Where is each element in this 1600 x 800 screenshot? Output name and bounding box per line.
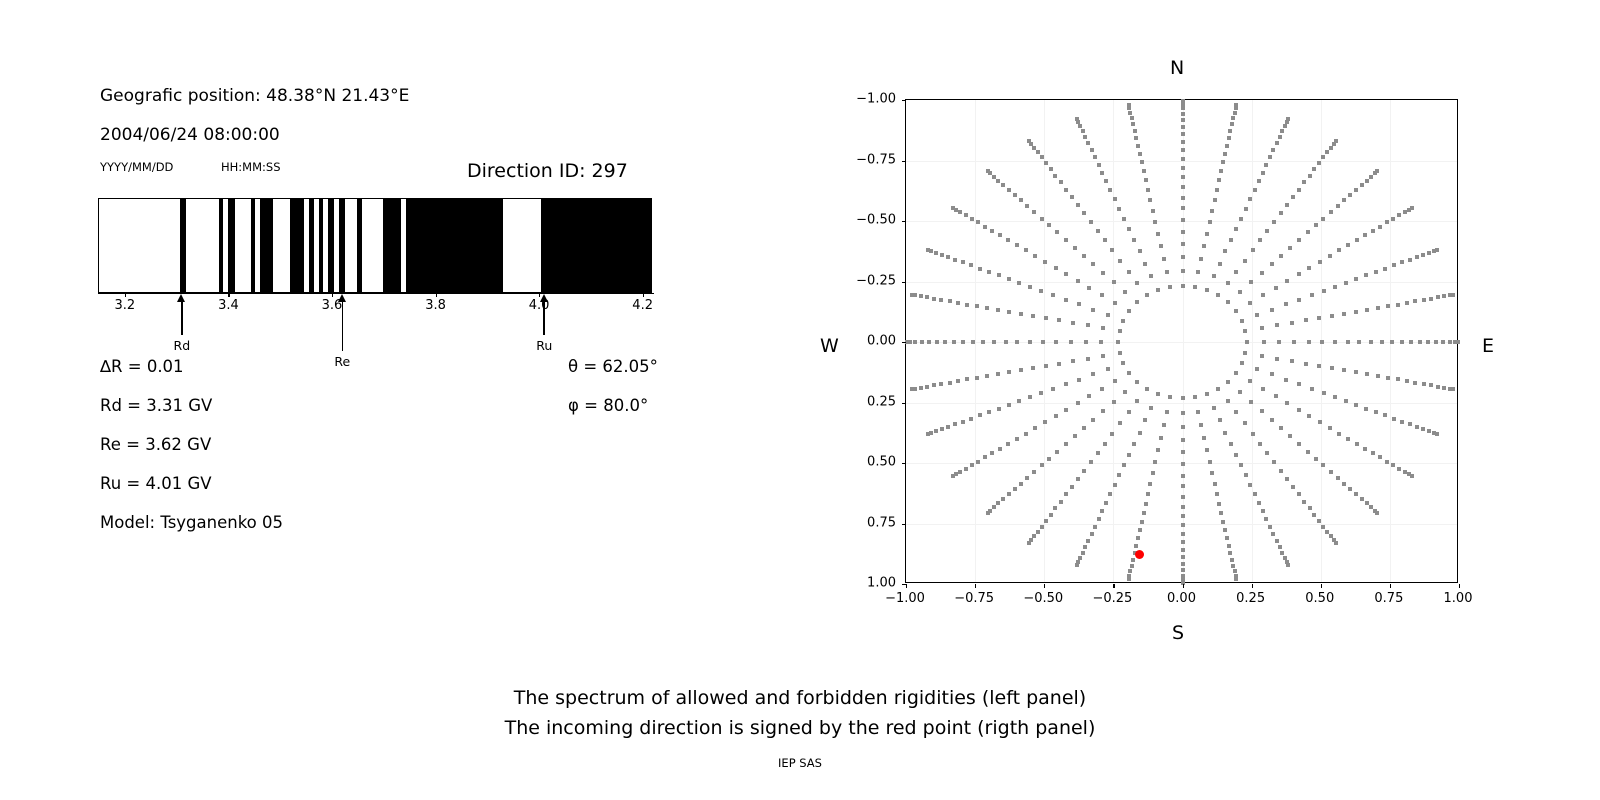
direction-point — [1376, 306, 1380, 310]
direction-point — [1103, 238, 1107, 242]
direction-point — [1100, 509, 1104, 513]
direction-point — [1329, 146, 1333, 150]
direction-point — [1262, 340, 1266, 344]
spectrum-marker-label-rd: Rd — [174, 338, 191, 353]
direction-point — [934, 251, 938, 255]
direction-point — [1135, 300, 1139, 304]
direction-point — [1181, 562, 1185, 566]
direction-point — [1243, 351, 1247, 355]
direction-point — [1100, 171, 1104, 175]
direction-point — [961, 260, 965, 264]
direction-point — [1055, 230, 1059, 234]
direction-point — [1019, 368, 1023, 372]
direction-point — [1015, 437, 1019, 441]
direction-point — [1112, 400, 1116, 404]
plot-x-tick-label: −0.50 — [1023, 591, 1063, 606]
direction-point — [1223, 528, 1227, 532]
direction-point — [1135, 281, 1139, 285]
direction-point — [1181, 157, 1185, 161]
direction-point — [1181, 196, 1185, 200]
direction-point — [1383, 413, 1387, 417]
direction-point — [1308, 174, 1312, 178]
plot-x-tick-label: −0.25 — [1092, 591, 1132, 606]
direction-point — [1248, 483, 1252, 487]
direction-point — [1089, 460, 1093, 464]
direction-point — [1442, 386, 1446, 390]
direction-point — [1027, 139, 1031, 143]
direction-point — [1302, 180, 1306, 184]
direction-point — [983, 225, 987, 229]
direction-point — [1108, 492, 1112, 496]
direction-point — [1138, 528, 1142, 532]
direction-point — [1310, 293, 1314, 297]
direction-point — [1181, 284, 1185, 288]
plot-y-tick — [902, 403, 906, 404]
direction-point — [1205, 232, 1209, 236]
direction-point — [1234, 371, 1238, 375]
direction-point — [1007, 310, 1011, 314]
direction-point — [1427, 251, 1431, 255]
direction-point — [1082, 469, 1086, 473]
direction-point — [1317, 161, 1321, 165]
direction-point — [1132, 442, 1136, 446]
direction-point — [1261, 509, 1265, 513]
direction-point — [1275, 323, 1279, 327]
direction-point — [1181, 411, 1185, 415]
direction-point — [1156, 232, 1160, 236]
direction-point — [1400, 260, 1404, 264]
direction-point — [1342, 368, 1346, 372]
direction-point — [1230, 558, 1234, 562]
direction-point — [1127, 309, 1131, 313]
direction-point — [1064, 382, 1068, 386]
direction-point — [1279, 254, 1283, 258]
direction-point — [1302, 500, 1306, 504]
direction-point — [1006, 238, 1010, 242]
spectrum-bands-container — [98, 198, 652, 293]
spectrum-marker-label-ru: Ru — [536, 338, 552, 353]
direction-point — [1181, 218, 1185, 222]
direction-point — [953, 258, 957, 262]
direction-point — [1076, 203, 1080, 207]
direction-point — [1318, 260, 1322, 264]
direction-point — [1181, 230, 1185, 234]
direction-point — [1047, 223, 1051, 227]
direction-point — [946, 255, 950, 259]
direction-point — [1040, 525, 1044, 529]
direction-point — [1297, 238, 1301, 242]
direction-point — [919, 294, 923, 298]
direction-point — [1333, 340, 1337, 344]
plot-x-tick-label: 0.50 — [1305, 591, 1334, 606]
direction-point — [1103, 442, 1107, 446]
direction-point — [1130, 564, 1134, 568]
rigidity-spectrum — [98, 198, 652, 293]
direction-point — [1217, 502, 1221, 506]
direction-point — [1271, 532, 1275, 536]
direction-point — [1128, 111, 1132, 115]
direction-point — [1151, 209, 1155, 213]
direction-point — [1093, 525, 1097, 529]
direction-point — [978, 267, 982, 271]
plot-x-tick — [1252, 584, 1253, 588]
direction-point — [1330, 366, 1334, 370]
direction-point — [1275, 539, 1279, 543]
plot-x-tick — [1183, 584, 1184, 588]
direction-point — [1325, 150, 1329, 154]
direction-point — [925, 385, 929, 389]
direction-point — [1346, 437, 1350, 441]
spectrum-forbidden-band — [339, 199, 346, 292]
direction-point — [1436, 295, 1440, 299]
direction-point — [1138, 249, 1142, 253]
direction-point — [1364, 273, 1368, 277]
direction-point — [975, 304, 979, 308]
direction-point — [1288, 434, 1292, 438]
direction-point — [1229, 238, 1233, 242]
direction-point — [1057, 362, 1061, 366]
direction-point — [925, 295, 929, 299]
direction-point — [1286, 117, 1290, 121]
direction-point — [1421, 253, 1425, 257]
direction-point — [1043, 420, 1047, 424]
param-theta: θ = 62.05° — [568, 357, 658, 376]
direction-point — [1202, 244, 1206, 248]
spectrum-axis-tick — [332, 293, 333, 297]
direction-point — [1380, 340, 1384, 344]
direction-point — [1100, 293, 1104, 297]
direction-point — [1017, 281, 1021, 285]
direction-point — [996, 179, 1000, 183]
direction-point — [1015, 243, 1019, 247]
direction-point — [1181, 555, 1185, 559]
direction-point — [1226, 300, 1230, 304]
spectrum-marker-arrowhead-icon — [540, 294, 548, 302]
direction-point — [920, 340, 924, 344]
direction-point — [910, 293, 914, 297]
plot-gridline-vertical — [1252, 100, 1253, 582]
direction-point — [1421, 427, 1425, 431]
direction-point — [1333, 285, 1337, 289]
plot-y-tick-label: 0.00 — [867, 334, 896, 349]
direction-point — [1355, 238, 1359, 242]
incoming-direction-marker — [1135, 550, 1144, 559]
spectrum-axis-tick — [643, 293, 644, 297]
direction-point — [1342, 312, 1346, 316]
direction-point — [1082, 254, 1086, 258]
direction-point — [1146, 492, 1150, 496]
direction-point — [1025, 204, 1029, 208]
direction-point — [1047, 457, 1051, 461]
direction-point — [1101, 326, 1105, 330]
direction-point — [1365, 308, 1369, 312]
direction-point — [1280, 551, 1284, 555]
direction-point — [1260, 326, 1264, 330]
direction-point — [1342, 482, 1346, 486]
direction-point — [1044, 519, 1048, 523]
direction-point — [1248, 197, 1252, 201]
direction-point — [1024, 432, 1028, 436]
direction-point — [1044, 364, 1048, 368]
direction-point — [1039, 289, 1043, 293]
direction-point — [1258, 442, 1262, 446]
direction-point — [1272, 460, 1276, 464]
direction-point — [1221, 160, 1225, 164]
direction-point — [981, 340, 985, 344]
direction-point — [1260, 354, 1264, 358]
direction-point — [1075, 563, 1079, 567]
direction-point — [1208, 220, 1212, 224]
direction-point — [1053, 174, 1057, 178]
direction-point — [1057, 318, 1061, 322]
direction-point — [1342, 198, 1346, 202]
direction-point — [1181, 132, 1185, 136]
direction-point — [1123, 390, 1127, 394]
direction-point — [1346, 243, 1350, 247]
direction-point — [1427, 429, 1431, 433]
direction-point — [1292, 340, 1296, 344]
direction-point — [1216, 387, 1220, 391]
plot-y-tick — [902, 100, 906, 101]
direction-point — [1291, 195, 1295, 199]
direction-point — [1270, 262, 1274, 266]
direction-point — [1244, 473, 1248, 477]
direction-scatter-plot — [905, 99, 1458, 583]
plot-y-tick-label: 0.75 — [867, 515, 896, 530]
direction-point — [1148, 482, 1152, 486]
direction-point — [1181, 185, 1185, 189]
direction-point — [1307, 266, 1311, 270]
direction-point — [1456, 340, 1460, 344]
direction-point — [1181, 484, 1185, 488]
direction-point — [1028, 285, 1032, 289]
direction-point — [1408, 422, 1412, 426]
direction-point — [1106, 313, 1110, 317]
direction-point — [1308, 506, 1312, 510]
direction-point — [932, 383, 936, 387]
direction-point — [1028, 340, 1032, 344]
caption-line-1: The spectrum of allowed and forbidden ri… — [0, 687, 1600, 709]
direction-point — [913, 340, 917, 344]
direction-point — [1405, 301, 1409, 305]
direction-point — [1017, 399, 1021, 403]
direction-point — [1054, 266, 1058, 270]
direction-point — [1386, 376, 1390, 380]
direction-point — [1337, 432, 1341, 436]
direction-point — [1288, 246, 1292, 250]
direction-point — [1227, 136, 1231, 140]
direction-point — [1090, 532, 1094, 536]
direction-point — [1240, 319, 1244, 323]
direction-point — [970, 217, 974, 221]
direction-point — [1033, 426, 1037, 430]
direction-point — [1181, 523, 1185, 527]
direction-point — [1312, 513, 1316, 517]
direction-point — [1231, 564, 1235, 568]
direction-point — [1215, 492, 1219, 496]
direction-point — [1116, 340, 1120, 344]
direction-point — [1344, 399, 1348, 403]
spectrum-axis-tick — [125, 293, 126, 297]
direction-point — [1133, 129, 1137, 133]
direction-point — [1278, 545, 1282, 549]
direction-point — [1086, 141, 1090, 145]
plot-x-tick-label: 0.75 — [1374, 591, 1403, 606]
direction-point — [1162, 423, 1166, 427]
plot-y-tick — [902, 524, 906, 525]
direction-point — [1360, 497, 1364, 501]
direction-point — [1168, 285, 1172, 289]
spectrum-forbidden-band — [383, 199, 401, 292]
direction-point — [969, 263, 973, 267]
time-format-hint: HH:MM:SS — [221, 160, 281, 174]
plot-x-tick-label: −0.75 — [954, 591, 994, 606]
direction-point — [1442, 294, 1446, 298]
direction-point — [1219, 169, 1223, 173]
direction-point — [1306, 230, 1310, 234]
direction-point — [1261, 171, 1265, 175]
direction-point — [1145, 293, 1149, 297]
direction-point — [1054, 414, 1058, 418]
direction-point — [1228, 129, 1232, 133]
direction-point — [1143, 418, 1147, 422]
direction-id-label: Direction ID: 297 — [467, 160, 628, 182]
plot-gridline-horizontal — [906, 342, 1457, 343]
spectrum-axis-tick-label: 3.4 — [218, 298, 239, 313]
plot-y-tick — [902, 221, 906, 222]
direction-point — [1134, 544, 1138, 548]
plot-x-tick — [1321, 584, 1322, 588]
direction-point — [1245, 340, 1249, 344]
direction-point — [1261, 387, 1265, 391]
direction-point — [958, 210, 962, 214]
direction-point — [948, 299, 952, 303]
direction-point — [1434, 340, 1438, 344]
direction-point — [1135, 399, 1139, 403]
direction-point — [1049, 167, 1053, 171]
direction-point — [1392, 417, 1396, 421]
plot-x-tick — [1459, 584, 1460, 588]
direction-point — [1410, 206, 1414, 210]
direction-point — [1149, 406, 1153, 410]
param-rd: Rd = 3.31 GV — [100, 396, 212, 415]
direction-point — [1378, 455, 1382, 459]
direction-point — [1234, 309, 1238, 313]
direction-point — [1253, 188, 1257, 192]
direction-point — [948, 381, 952, 385]
direction-point — [1257, 179, 1261, 183]
direction-point — [1320, 340, 1324, 344]
direction-point — [1312, 167, 1316, 171]
direction-point — [1283, 124, 1287, 128]
direction-point — [1089, 220, 1093, 224]
direction-point — [964, 213, 968, 217]
direction-point — [1249, 280, 1253, 284]
direction-point — [1413, 381, 1417, 385]
direction-point — [919, 386, 923, 390]
plot-gridline-vertical — [1183, 100, 1184, 582]
spectrum-axis-tick-label: 4.2 — [632, 298, 653, 313]
direction-point — [1112, 280, 1116, 284]
direction-point — [1087, 286, 1091, 290]
direction-point — [1070, 485, 1074, 489]
direction-point — [1265, 229, 1269, 233]
direction-point — [1059, 180, 1063, 184]
direction-point — [997, 273, 1001, 277]
direction-point — [1297, 382, 1301, 386]
direction-point — [1365, 501, 1369, 505]
direction-point — [1004, 340, 1008, 344]
direction-point — [1028, 395, 1032, 399]
direction-point — [926, 248, 930, 252]
direction-point — [1131, 558, 1135, 562]
spectrum-forbidden-band — [328, 199, 334, 292]
plot-x-tick — [1044, 584, 1045, 588]
direction-point — [970, 463, 974, 467]
direction-point — [952, 340, 956, 344]
direction-point — [1144, 502, 1148, 506]
direction-point — [1134, 136, 1138, 140]
direction-point — [1064, 272, 1068, 276]
direction-point — [996, 372, 1000, 376]
direction-point — [1181, 574, 1185, 578]
direction-point — [1019, 198, 1023, 202]
direction-point — [1181, 568, 1185, 572]
direction-point — [935, 340, 939, 344]
direction-point — [1027, 541, 1031, 545]
direction-point — [1101, 354, 1105, 358]
direction-point — [1153, 460, 1157, 464]
direction-point — [1036, 530, 1040, 534]
direction-point — [1181, 242, 1185, 246]
direction-point — [1317, 519, 1321, 523]
direction-point — [1007, 370, 1011, 374]
direction-point — [1371, 229, 1375, 233]
direction-point — [1234, 103, 1238, 107]
direction-point — [1244, 207, 1248, 211]
direction-point — [1243, 259, 1247, 263]
direction-point — [1064, 442, 1068, 446]
direction-point — [1165, 410, 1169, 414]
direction-point — [1215, 188, 1219, 192]
direction-point — [1290, 359, 1294, 363]
direction-point — [1127, 371, 1131, 375]
direction-point — [1260, 271, 1264, 275]
direction-point — [1391, 463, 1395, 467]
direction-point — [1205, 288, 1209, 292]
direction-point — [1357, 340, 1361, 344]
direction-point — [1106, 367, 1110, 371]
spectrum-panel: Geografic position: 48.38°N 21.43°E 2004… — [0, 0, 760, 620]
direction-point — [1426, 340, 1430, 344]
direction-point — [1007, 277, 1011, 281]
direction-point — [1193, 285, 1197, 289]
direction-point — [1181, 532, 1185, 536]
direction-point — [940, 427, 944, 431]
plot-x-tick — [1113, 584, 1114, 588]
direction-point — [976, 460, 980, 464]
spectrum-forbidden-band — [180, 199, 186, 292]
direction-point — [1076, 279, 1080, 283]
direction-point — [1391, 217, 1395, 221]
direction-point — [1251, 432, 1255, 436]
direction-point — [1073, 246, 1077, 250]
direction-point — [1064, 408, 1068, 412]
direction-point — [1110, 432, 1114, 436]
direction-point — [1422, 298, 1426, 302]
direction-point — [1015, 340, 1019, 344]
direction-point — [1091, 372, 1095, 376]
